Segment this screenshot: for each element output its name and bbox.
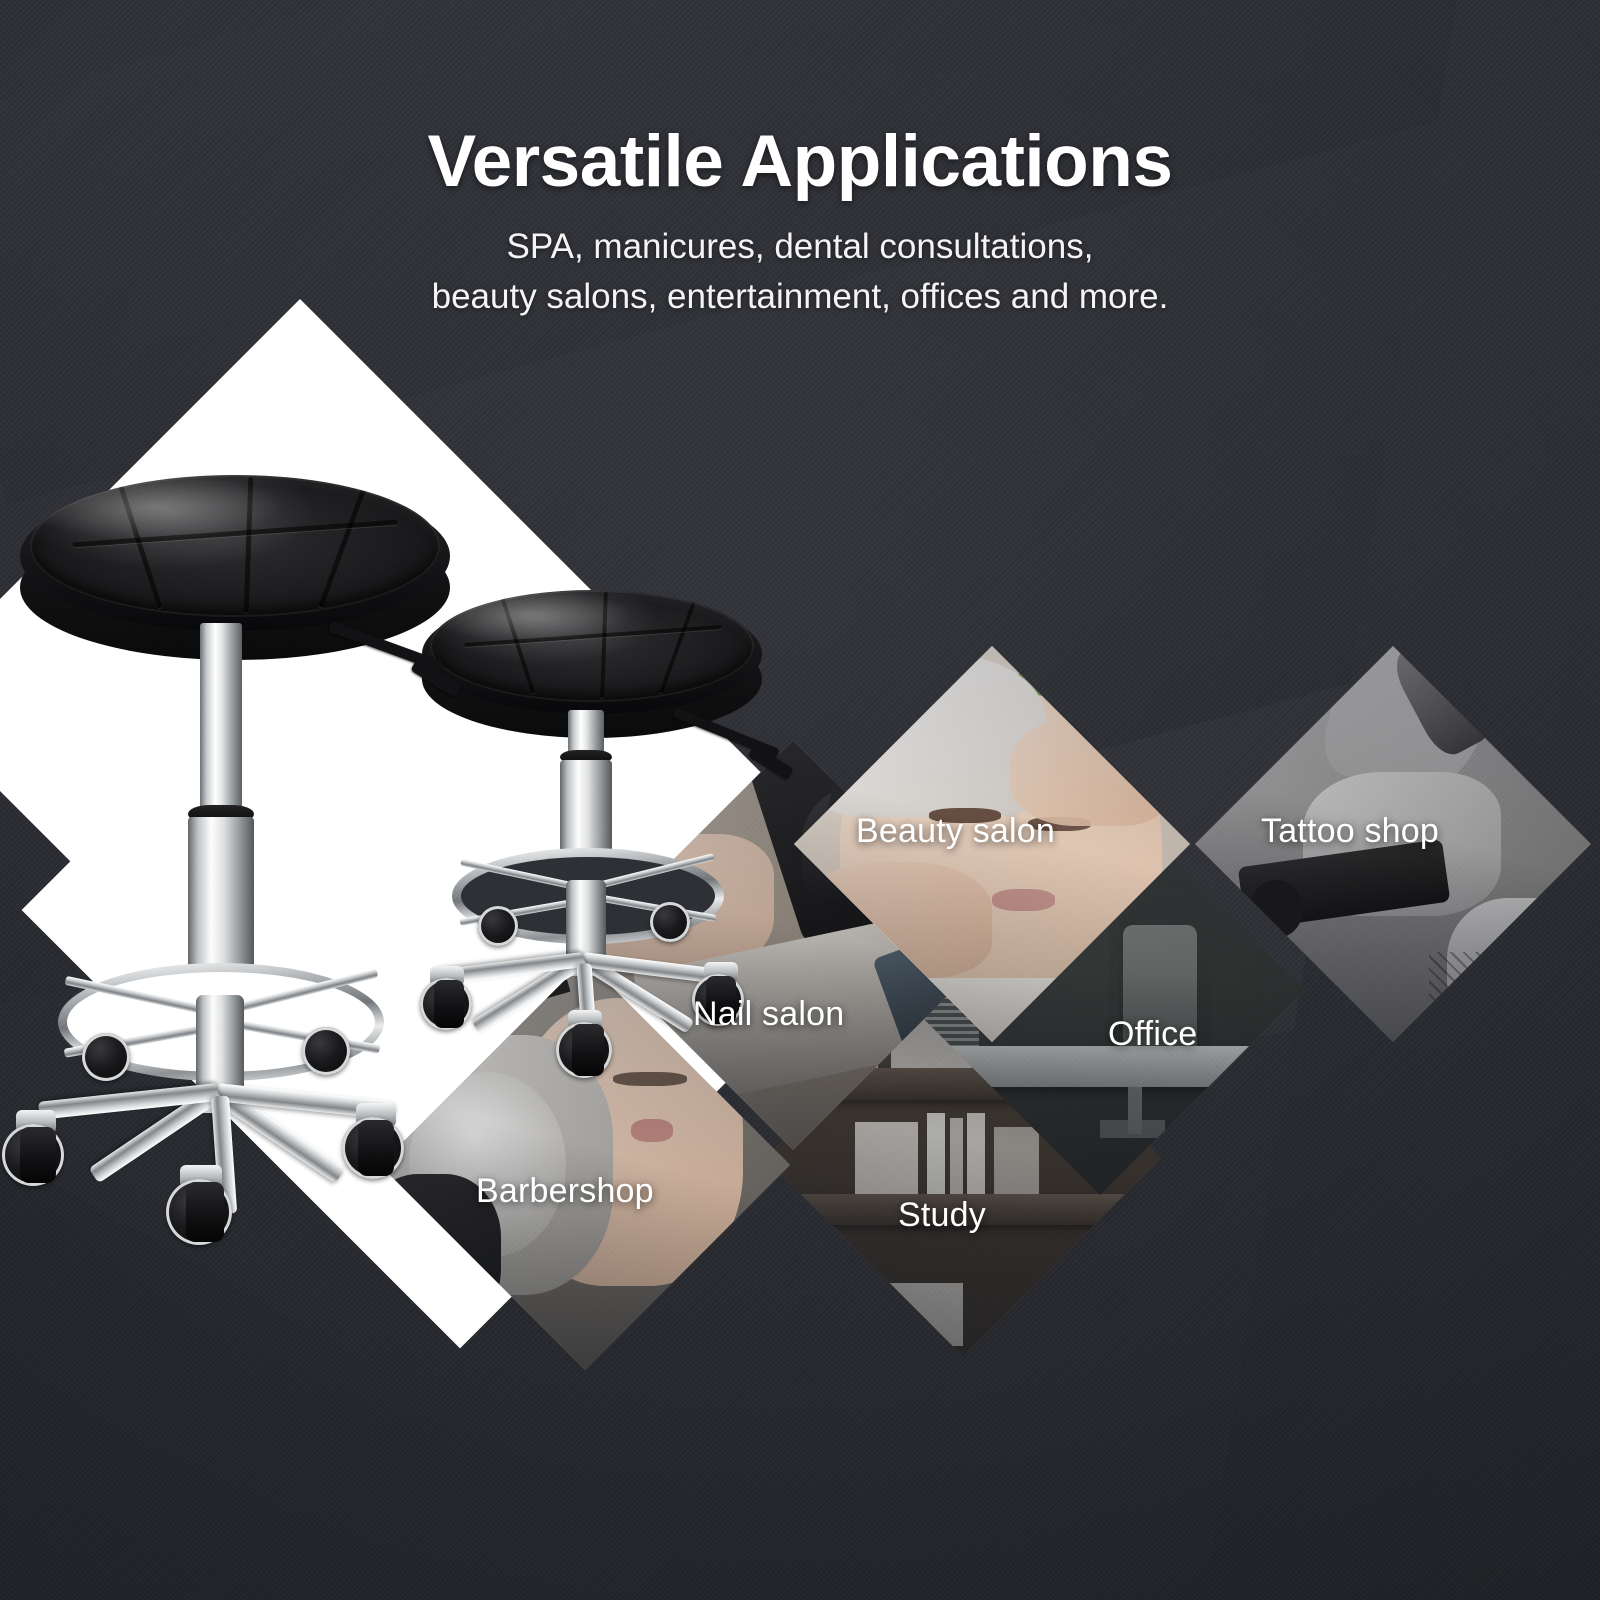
product-feature-banner: Versatile Applications SPA, manicures, d… [0,0,1600,1600]
application-label-study: Study [898,1196,986,1235]
product-stool-front-left [0,455,460,1285]
application-label-tattoo-shop: Tattoo shop [1261,812,1439,851]
application-label-beauty-salon: Beauty salon [856,812,1055,851]
application-label-barbershop: Barbershop [476,1172,654,1211]
application-label-office: Office [1108,1015,1197,1054]
application-label-nail-salon: Nail salon [693,995,844,1034]
stool-gas-cylinder-front [200,623,242,813]
page-title: Versatile Applications [0,0,1600,198]
page-subtitle: SPA, manicures, dental consultations, be… [0,198,1600,321]
header: Versatile Applications SPA, manicures, d… [0,0,1600,321]
subtitle-line-1: SPA, manicures, dental consultations, [0,222,1600,272]
subtitle-line-2: beauty salons, entertainment, offices an… [0,272,1600,322]
